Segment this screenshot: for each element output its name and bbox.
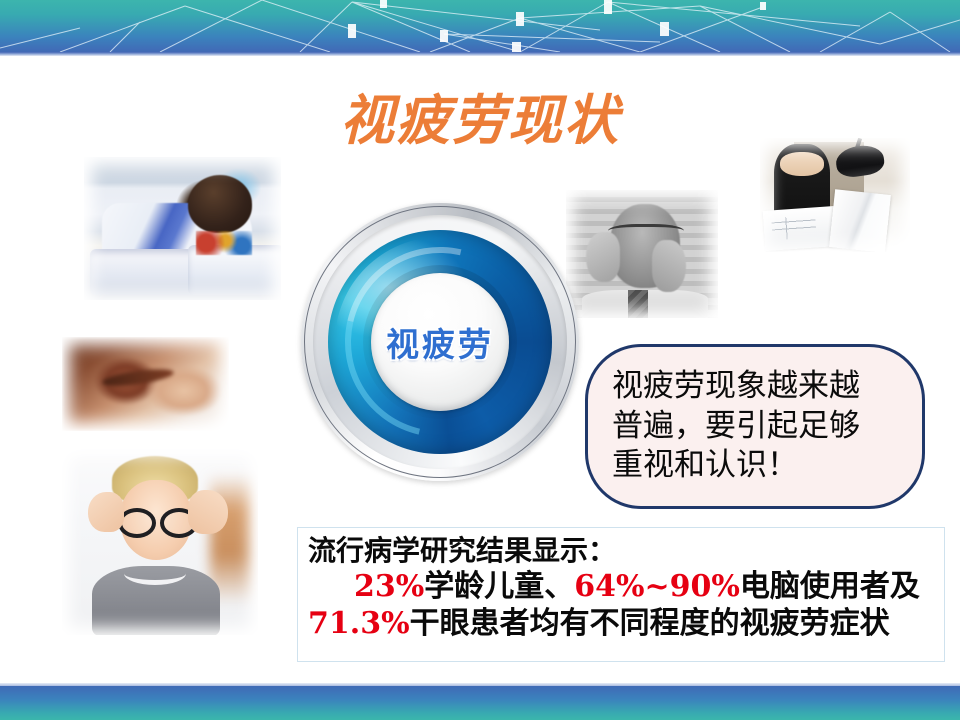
slide-canvas: 视疲劳现状 <box>0 0 960 720</box>
man-hand-left <box>586 232 620 282</box>
man-necktie <box>628 290 648 318</box>
callout-line-3: 重视和认识！ <box>612 446 860 486</box>
photo-man-image <box>566 190 718 318</box>
statistics-heading: 流行病学研究结果显示： <box>308 534 936 568</box>
statistics-line-2: 23%学龄儿童、64%~90%电脑使用者及 <box>308 568 936 605</box>
photo-boy-image <box>62 448 258 635</box>
network-lines-graphic <box>0 0 960 52</box>
stat-value-71-3: 71.3% <box>308 606 410 641</box>
boy-hand-right <box>188 490 228 534</box>
banner-underline <box>0 52 960 56</box>
eyeglasses-icon <box>608 224 684 241</box>
bottom-decorative-banner <box>0 686 960 720</box>
stat-value-64-90: 64%~90% <box>574 569 740 604</box>
photo-desk-image <box>760 138 910 252</box>
photo-rub-image <box>62 337 229 431</box>
photo-man-rubbing-eyes-bw <box>566 190 718 318</box>
photo-boy-trial-frames <box>62 448 258 635</box>
student-book-illustration <box>196 231 252 255</box>
photo-student-image <box>84 157 281 300</box>
stat-value-23: 23% <box>354 569 424 604</box>
stat-text-computer-users: 电脑使用者及 <box>740 569 920 604</box>
rub-brow-shadow <box>101 366 174 389</box>
central-emblem: 视疲劳 <box>301 203 579 481</box>
boy-collar <box>124 562 186 585</box>
desk-open-book <box>829 189 891 252</box>
stat-text-dry-eye: 干眼患者均有不同程度的视疲劳症状 <box>410 606 890 641</box>
photo-adult-rubbing-eyes <box>62 337 229 431</box>
callout-line-2: 普遍，要引起足够 <box>612 407 860 447</box>
photo-student-studying <box>84 157 281 300</box>
desk-worker-hands <box>780 152 824 176</box>
man-hand-right <box>652 240 686 292</box>
statistics-textbox: 流行病学研究结果显示： 23%学龄儿童、64%~90%电脑使用者及 71.3%干… <box>297 527 945 662</box>
emblem-inner-disc: 视疲劳 <box>371 273 509 411</box>
statistics-line-3: 71.3%干眼患者均有不同程度的视疲劳症状 <box>308 605 936 642</box>
stat-text-school-children: 学龄儿童、 <box>424 569 574 604</box>
callout-bubble-text: 视疲劳现象越来越 普遍，要引起足够 重视和认识！ <box>588 367 880 486</box>
emblem-label: 视疲劳 <box>386 318 494 366</box>
callout-line-1: 视疲劳现象越来越 <box>612 367 860 407</box>
student-book-left <box>90 249 198 295</box>
top-decorative-banner <box>0 0 960 52</box>
callout-bubble: 视疲劳现象越来越 普遍，要引起足够 重视和认识！ <box>585 344 925 509</box>
student-head <box>188 175 252 233</box>
boy-hand-left <box>88 492 124 532</box>
photo-desk-worker-fatigue <box>760 138 910 252</box>
